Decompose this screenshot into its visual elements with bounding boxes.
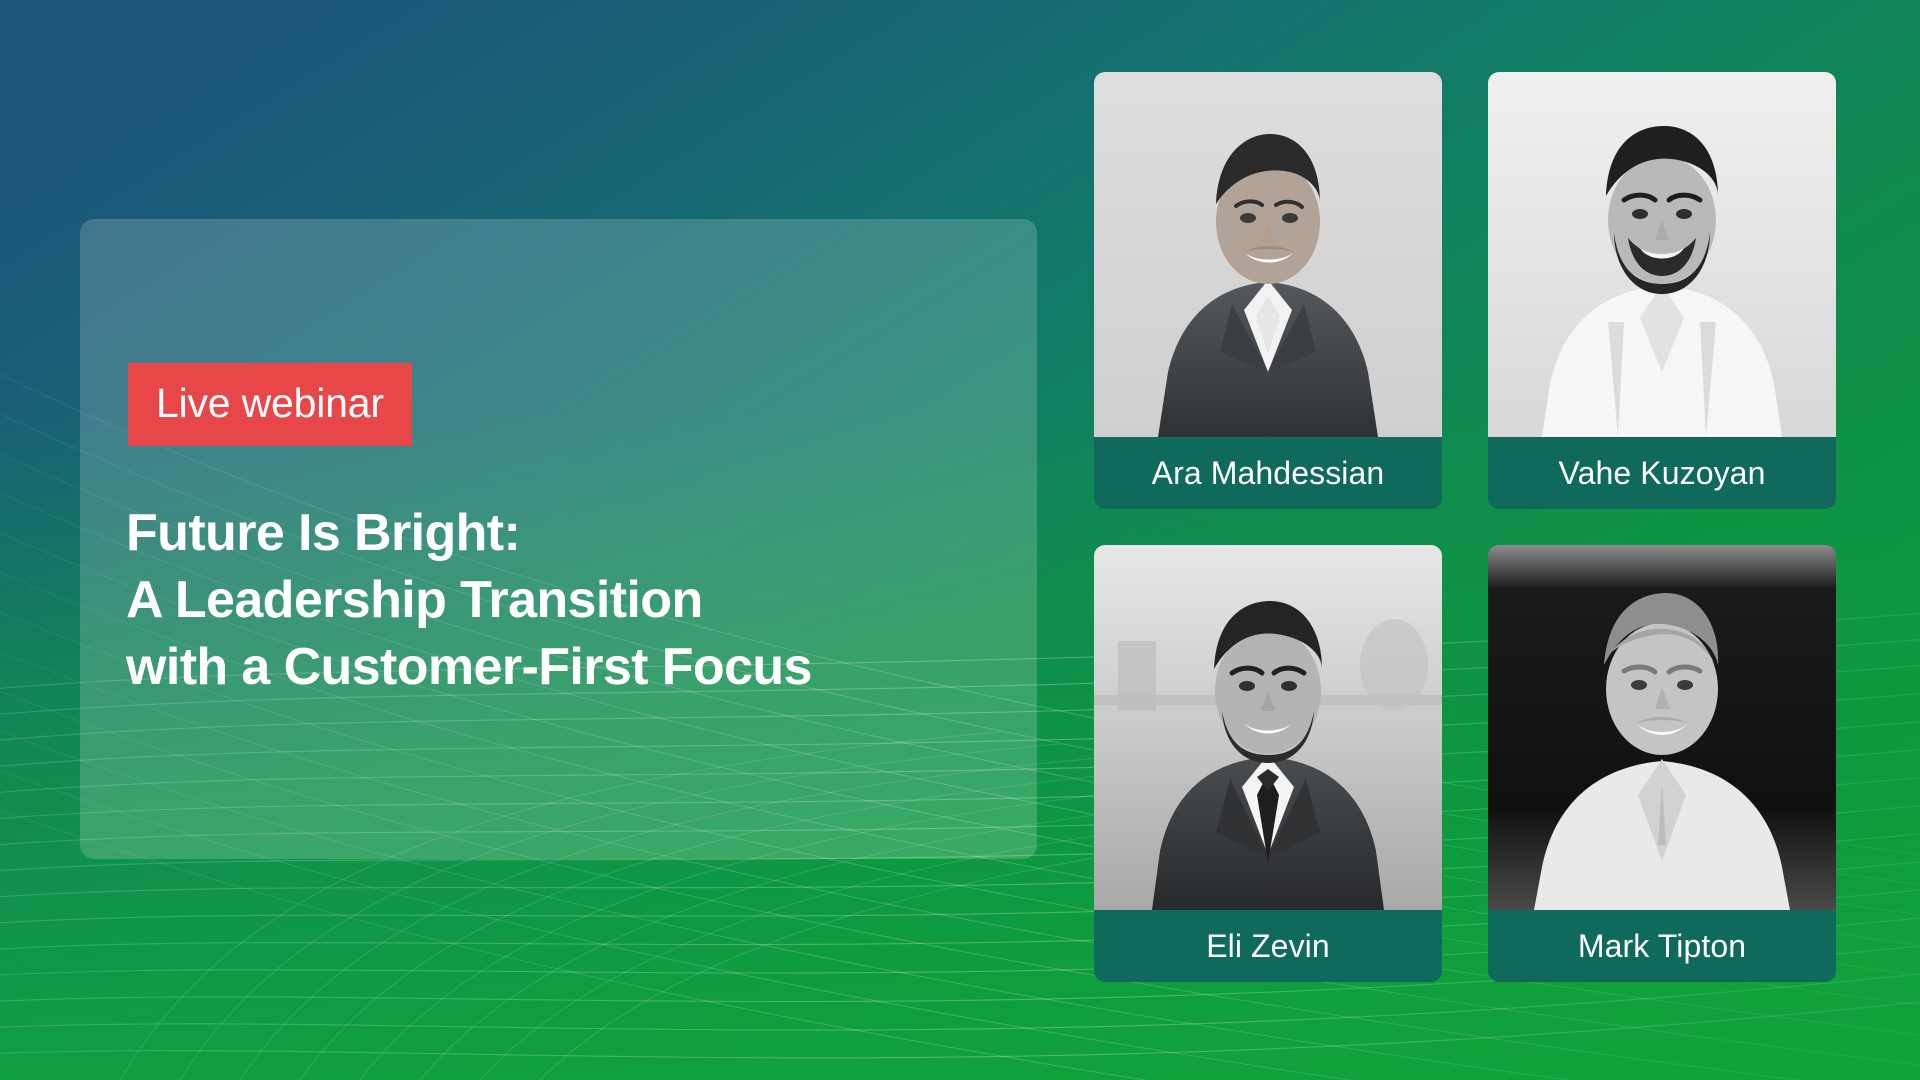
speaker-photo-eli-zevin — [1094, 545, 1442, 910]
live-webinar-badge: Live webinar — [128, 363, 412, 446]
speaker-name-mark-tipton: Mark Tipton — [1488, 910, 1836, 982]
speaker-card-eli-zevin: Eli Zevin — [1094, 545, 1442, 982]
speaker-card-vahe-kuzoyan: Vahe Kuzoyan — [1488, 72, 1836, 509]
speaker-name-vahe-kuzoyan: Vahe Kuzoyan — [1488, 437, 1836, 509]
title-line-1: Future Is Bright: — [126, 500, 1006, 567]
speaker-grid: Ara Mahdessian — [1094, 72, 1836, 982]
banner-stage: Live webinar Future Is Bright: A Leaders… — [0, 0, 1920, 1080]
title-line-2: A Leadership Transition — [126, 567, 1006, 634]
speaker-card-mark-tipton: Mark Tipton — [1488, 545, 1836, 982]
speaker-photo-ara-mahdessian — [1094, 72, 1442, 437]
speaker-card-ara-mahdessian: Ara Mahdessian — [1094, 72, 1442, 509]
speaker-photo-vahe-kuzoyan — [1488, 72, 1836, 437]
page-title: Future Is Bright: A Leadership Transitio… — [126, 500, 1006, 701]
speaker-name-eli-zevin: Eli Zevin — [1094, 910, 1442, 982]
speaker-name-ara-mahdessian: Ara Mahdessian — [1094, 437, 1442, 509]
speaker-photo-mark-tipton — [1488, 545, 1836, 910]
title-line-3: with a Customer-First Focus — [126, 634, 1006, 701]
